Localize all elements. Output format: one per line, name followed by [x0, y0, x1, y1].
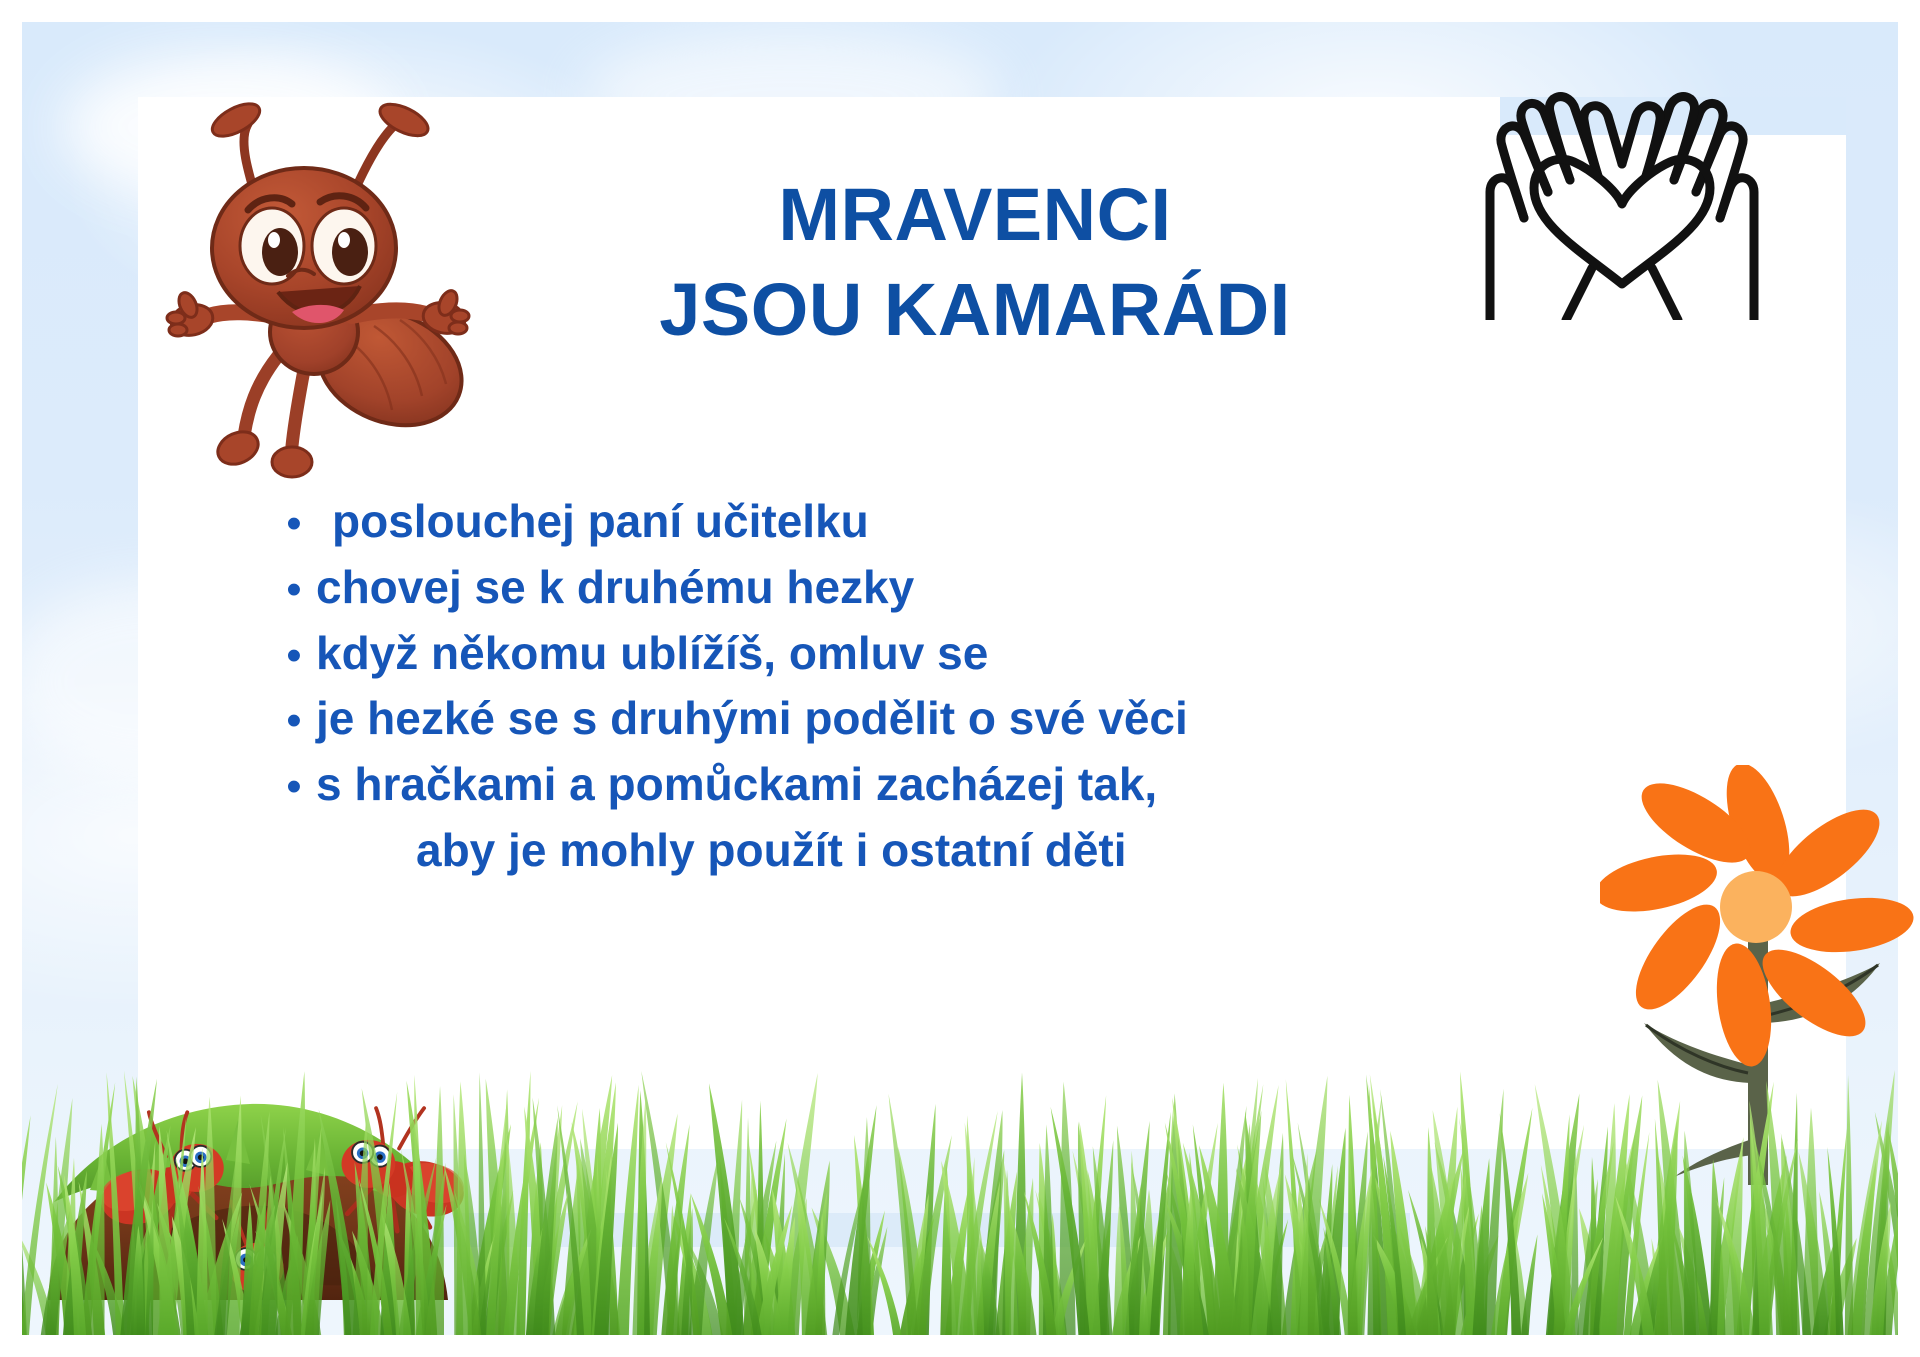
- rule-text: když někomu ublížíš, omluv se: [316, 624, 988, 684]
- rule-text: poslouchej paní učitelku: [316, 492, 869, 552]
- rule-text: s hračkami a pomůckami zacházej tak,: [316, 755, 1157, 815]
- title-line-2: JSOU KAMARÁDI: [560, 263, 1390, 358]
- list-item: • s hračkami a pomůckami zacházej tak,: [272, 755, 1392, 815]
- list-item: • poslouchej paní učitelku: [272, 492, 1392, 552]
- hands-holding-heart-icon: [1462, 72, 1782, 320]
- bullet-icon: •: [272, 755, 316, 809]
- rules-list: • poslouchej paní učitelku • chovej se k…: [272, 492, 1392, 887]
- bullet-icon: •: [272, 689, 316, 743]
- list-item: • je hezké se s druhými podělit o své vě…: [272, 689, 1392, 749]
- cartoon-ant-icon: [152, 80, 482, 500]
- rule-text: je hezké se s druhými podělit o své věci: [316, 689, 1188, 749]
- list-item: • když někomu ublížíš, omluv se: [272, 624, 1392, 684]
- list-item: • chovej se k druhému hezky: [272, 558, 1392, 618]
- poster-canvas: MRAVENCI JSOU KAMARÁDI • poslouchej paní…: [0, 0, 1920, 1357]
- bullet-icon: •: [272, 624, 316, 678]
- list-item: • aby je mohly použít i ostatní děti: [272, 821, 1392, 881]
- title-line-1: MRAVENCI: [560, 168, 1390, 263]
- grass-strip-icon: [22, 1035, 1898, 1335]
- bullet-icon: •: [272, 492, 316, 546]
- rule-text: chovej se k druhému hezky: [316, 558, 914, 618]
- poster-title: MRAVENCI JSOU KAMARÁDI: [560, 168, 1390, 357]
- rule-text: aby je mohly použít i ostatní děti: [316, 821, 1127, 881]
- bullet-icon: •: [272, 558, 316, 612]
